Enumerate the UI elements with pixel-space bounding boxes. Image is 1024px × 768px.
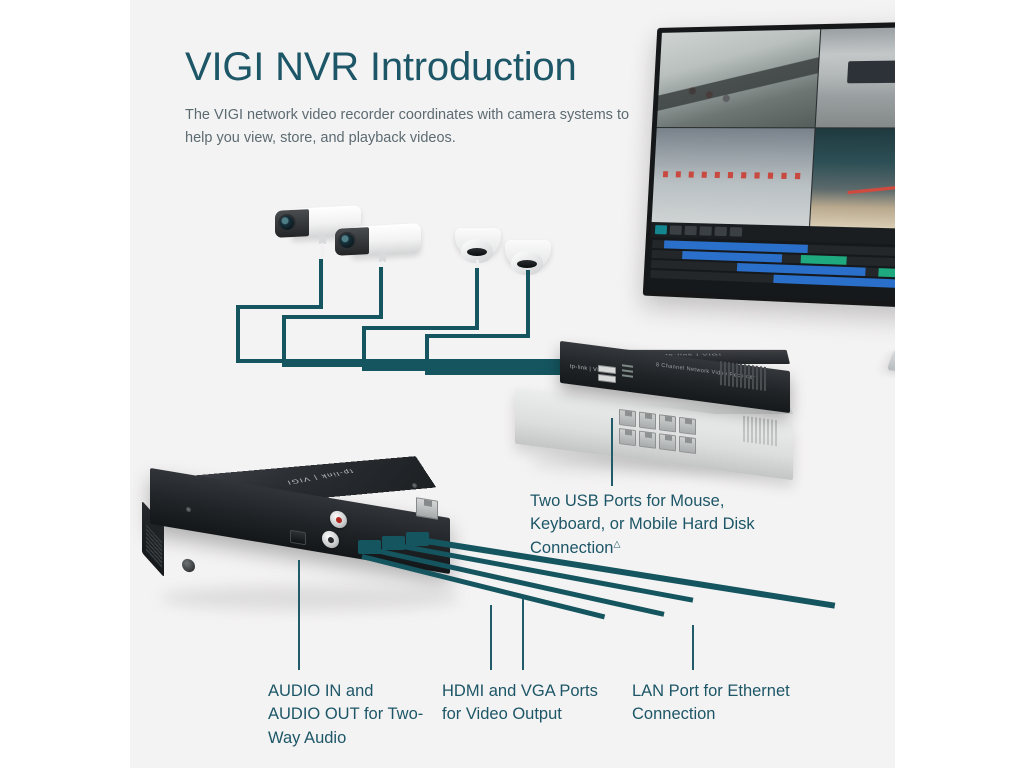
leader-line-lan xyxy=(692,625,694,670)
camera-cable-4 xyxy=(526,270,530,338)
layout-icon[interactable] xyxy=(684,226,696,235)
camera-cable-2 xyxy=(282,315,286,367)
callout-video-output-ports: HDMI and VGA Ports for Video Output xyxy=(442,680,607,727)
status-led xyxy=(622,369,633,372)
callout-lan-port: LAN Port for Ethernet Connection xyxy=(632,680,822,727)
usb-port-pair[interactable] xyxy=(598,365,616,384)
callout-usb-ports: Two USB Ports for Mouse, Keyboard, or Mo… xyxy=(530,490,765,560)
rj45-port xyxy=(639,412,656,430)
turret-camera-1 xyxy=(455,228,501,268)
camera-feed-parking-barrier-gate xyxy=(810,128,895,230)
power-port[interactable] xyxy=(290,530,306,546)
leader-line-hdmi xyxy=(490,605,492,670)
status-led xyxy=(622,364,633,367)
monitor-stand-base xyxy=(886,349,895,374)
camera-lens xyxy=(467,248,487,256)
stop-icon[interactable] xyxy=(670,225,682,234)
brand-logo: tp-link | VIGI xyxy=(285,468,354,486)
lan-port[interactable] xyxy=(416,497,438,520)
leader-line-audio xyxy=(298,560,300,670)
page-subtitle: The VIGI network video recorder coordina… xyxy=(185,104,655,150)
camera-cable-2 xyxy=(282,315,383,319)
page-title: VIGI NVR Introduction xyxy=(185,45,655,90)
playback-timeline[interactable] xyxy=(648,237,895,305)
rj45-port xyxy=(659,414,676,432)
camera-lens xyxy=(280,216,294,230)
monitor-screen xyxy=(648,25,895,305)
camera-feed-toll-plaza xyxy=(652,128,814,226)
rj45-port xyxy=(619,409,636,427)
camera-cable-4 xyxy=(425,334,530,338)
play-icon[interactable] xyxy=(655,225,667,234)
camera-cable-2 xyxy=(379,267,383,319)
content-panel: VIGI NVR Introduction The VIGI network v… xyxy=(130,0,895,768)
bullet-camera-2 xyxy=(335,225,421,258)
camera-feed-snowy-aerial-car-park xyxy=(657,29,820,127)
rewind-icon[interactable] xyxy=(699,226,712,235)
camera-cable-1 xyxy=(236,305,323,309)
quad-view-grid xyxy=(652,25,895,230)
callout-audio-ports: AUDIO IN and AUDIO OUT for Two-Way Audio xyxy=(268,680,428,750)
network-video-recorder-front: tp-link | VIGI xyxy=(140,455,460,600)
camera-lens xyxy=(517,260,537,268)
callout-usb-text: Two USB Ports for Mouse, Keyboard, or Mo… xyxy=(530,492,755,557)
heading-block: VIGI NVR Introduction The VIGI network v… xyxy=(185,45,655,150)
network-video-recorder: tp-link | VIGI tp-link | VIGI 8 Channel … xyxy=(560,338,790,402)
ground-screw xyxy=(182,558,195,573)
rj45-port xyxy=(659,433,676,451)
camera-cable-4 xyxy=(425,334,429,372)
camera-cable-3 xyxy=(475,268,479,330)
usb-port[interactable] xyxy=(598,365,616,374)
camera-cable-3 xyxy=(362,326,479,330)
camera-feed-warehouse-interior xyxy=(815,25,895,127)
camera-cable-1 xyxy=(319,259,323,309)
forward-icon[interactable] xyxy=(714,227,727,236)
footnote-marker: △ xyxy=(613,538,620,548)
leader-line-vga xyxy=(522,598,524,670)
monitor-bezel xyxy=(643,20,895,311)
status-led-group xyxy=(622,364,633,377)
rj45-port xyxy=(619,428,636,446)
usb-port[interactable] xyxy=(598,374,616,383)
leader-line-usb xyxy=(611,418,613,486)
product-diagram-canvas: VIGI NVR Introduction The VIGI network v… xyxy=(0,0,1024,768)
camera-cable-1 xyxy=(236,305,240,363)
switch-vent xyxy=(743,416,777,446)
desktop-monitor xyxy=(650,28,895,296)
rj45-port xyxy=(679,417,696,435)
camera-cable-3 xyxy=(362,326,366,368)
camera-lens xyxy=(340,234,354,248)
volume-icon[interactable] xyxy=(730,227,743,237)
rj45-port xyxy=(679,436,696,454)
rj45-port xyxy=(639,431,656,449)
